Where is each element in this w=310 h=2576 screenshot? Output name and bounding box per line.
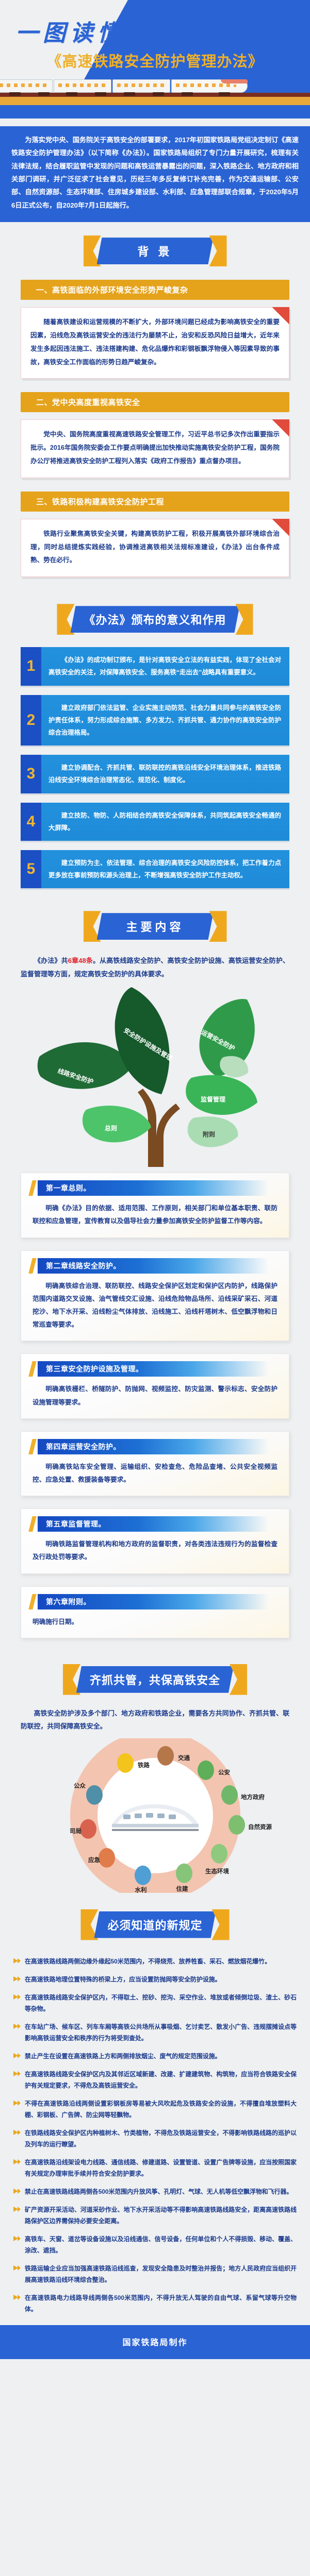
arrow-right-icon bbox=[13, 2129, 22, 2136]
chapter-text-2: 明确高铁综合治理、联防联控、线路安全保护区划定和保护区内防护，线路保护范围内道路… bbox=[32, 1280, 278, 1332]
significance-text-4: 建立技防、物防、人防相结合的高铁安全保障体系，共同筑起高铁安全畅通的大屏障。 bbox=[48, 809, 281, 834]
joint-management-diagram: 铁路 交通 公安 地方政府 自然资源 生态环境 bbox=[0, 1738, 310, 1893]
new-rule-text-9: 禁止在高速铁路线路两侧各500米范围内升放风筝、孔明灯、气球、无人机等低空飘浮物… bbox=[25, 2186, 297, 2197]
list-item: 禁止产生在设置在高速铁路上方和两侧排放烟尘、废气的规定范围设施。 bbox=[13, 2050, 297, 2062]
tree-leaf-supervision: 监督管理 bbox=[186, 1075, 257, 1115]
tree-diagram: 线路安全防护 安全防护设施及管理 运营安全防护 监督管理 bbox=[0, 984, 310, 1170]
highlight-chapter-count: 6章48条 bbox=[68, 957, 93, 964]
train-car bbox=[0, 79, 53, 93]
chapter-slash-icon bbox=[28, 1258, 36, 1274]
tree-leaf-facilities: 安全防护设施及管理 bbox=[115, 987, 173, 1094]
background-card-2: 党中央、国务院高度重视高速铁路安全管理工作，习近平总书记多次作出重要指示批示。2… bbox=[21, 419, 289, 478]
arrow-right-icon bbox=[13, 2188, 22, 2194]
new-rules-banner-label: 必须知道的新规定 bbox=[94, 1911, 216, 1938]
chapter-slash-icon bbox=[28, 1361, 36, 1377]
fold-corner-icon bbox=[272, 519, 289, 536]
train-head-car bbox=[171, 79, 248, 93]
tree-svg: 线路安全防护 安全防护设施及管理 运营安全防护 监督管理 bbox=[21, 984, 289, 1167]
background-text-3: 铁路行业聚焦高铁安全关键，构建高铁防护工程，积极开展高铁外部环境综合治理，同时总… bbox=[30, 528, 280, 567]
significance-number-5: 5 bbox=[21, 850, 41, 888]
arrow-right-icon bbox=[13, 2100, 22, 2106]
department-node-local-gov: 地方政府 bbox=[221, 1785, 265, 1805]
significance-text-2: 建立政府部门依法监管、企业实施主动防范、社会力量共同参与的高铁安全防护责任体系，… bbox=[48, 702, 281, 739]
chapter-slash-icon bbox=[28, 1594, 36, 1609]
department-label-4: 自然资源 bbox=[248, 1823, 272, 1831]
fold-corner-icon bbox=[272, 307, 289, 325]
department-label-1: 交通 bbox=[178, 1754, 190, 1761]
background-heading-2: 二、党中央高度重视高铁安全 bbox=[21, 392, 289, 412]
list-item: 矿产资源开采活动、河道采砂作业、地下水开采活动等不得影响高速铁路线路安全，距离高… bbox=[13, 2204, 297, 2227]
background-card-1: 随着高铁建设和运营规模的不断扩大，外部环境问题已经成为影响高铁安全的重要因素，沿… bbox=[21, 307, 289, 379]
chapter-title-6: 第六章附则。 bbox=[38, 1594, 289, 1609]
chapter-text-4: 明确高铁站车安全管理、运输组织、安检查危、危险品查堵、公共安全视频监控、应急处置… bbox=[32, 1461, 278, 1486]
department-label-8: 应急 bbox=[88, 1856, 100, 1863]
ribbon-tail-right bbox=[236, 604, 253, 635]
arrow-right-icon bbox=[13, 2265, 22, 2271]
infographic-page: 一图读懂 《高速铁路安全防护管理办法》 bbox=[0, 0, 310, 2359]
department-label-9: 司局 bbox=[70, 1828, 81, 1835]
chapter-title-1: 第一章总则。 bbox=[38, 1180, 289, 1196]
background-text-2: 党中央、国务院高度重视高速铁路安全管理工作，习近平总书记多次作出重要指示批示。2… bbox=[30, 428, 280, 468]
chapter-title-4: 第四章运营安全防护。 bbox=[38, 1439, 289, 1454]
arrow-right-icon bbox=[13, 1994, 22, 2000]
hero-header: 一图读懂 《高速铁路安全防护管理办法》 bbox=[0, 0, 310, 126]
train-car bbox=[112, 79, 170, 93]
new-rule-text-3: 在车站广场、候车区、列车车厢等高铁公共场所从事吸烟、乞讨卖艺、散发小广告、违规摆… bbox=[25, 2021, 297, 2044]
chapter-text-6: 明确施行日期。 bbox=[32, 1616, 278, 1629]
list-item: 禁止在高速铁路线路两侧各500米范围内升放风筝、孔明灯、气球、无人机等低空飘浮物… bbox=[13, 2186, 297, 2197]
arrow-right-icon bbox=[13, 2053, 22, 2059]
tree-leaf-label-5: 附则 bbox=[203, 1130, 215, 1138]
background-banner-label: 背 景 bbox=[97, 238, 214, 264]
new-rule-text-10: 矿产资源开采活动、河道采砂作业、地下水开采活动等不得影响高速铁路线路安全，距离高… bbox=[25, 2204, 297, 2227]
department-label-10: 公众 bbox=[74, 1782, 86, 1789]
intro-paragraph: 为落实党中央、国务院关于高铁安全的部署要求，2017年初国家铁路局党组决定制订《… bbox=[0, 126, 310, 222]
list-item: 在高速铁路沿线架设电力线路、通信线路、修建道路、设置管道、设置广告牌等设施，应当… bbox=[13, 2157, 297, 2179]
joint-management-banner-label: 齐抓共管，共保高铁安全 bbox=[76, 1666, 234, 1693]
joint-management-banner: 齐抓共管，共保高铁安全 bbox=[0, 1651, 310, 1705]
background-heading-3: 三、铁路积极构建高铁安全防护工程 bbox=[21, 492, 289, 512]
list-item: 铁路运输企业应当加强高速铁路沿线巡查，发现安全隐患及时整治并报告；地方人民政府应… bbox=[13, 2263, 297, 2285]
significance-text-1: 《办法》的成功制订颁布，是针对高铁安全立法的有益实践，体现了全社会对高铁安全的关… bbox=[48, 654, 281, 679]
chapter-text-3: 明确高铁栅栏、桥隧防护、防抛网、视频监控、防灾监测、警示标志、安全防护设施管理等… bbox=[32, 1383, 278, 1409]
chapter-card-1: 第一章总则。 明确《办法》目的依据、适用范围、工作原则，相关部门和单位基本职责、… bbox=[21, 1173, 289, 1238]
background-card-3: 铁路行业聚焦高铁安全关键，构建高铁防护工程，积极开展高铁外部环境综合治理，同时总… bbox=[21, 519, 289, 577]
arrow-right-icon bbox=[13, 2294, 22, 2300]
ribbon-tail-right bbox=[209, 235, 227, 266]
arrow-right-icon bbox=[13, 2235, 22, 2242]
arrow-right-icon bbox=[13, 2159, 22, 2165]
footer-credit: 国家铁路局制作 bbox=[0, 2325, 310, 2359]
list-item: 不得在高速铁路沿线两侧设置彩钢板房等易被大风吹起危及铁路安全的设施，不得擅自堆放… bbox=[13, 2098, 297, 2121]
tree-leaf-general: 总则 bbox=[82, 1106, 151, 1142]
main-content-intro-text: 《办法》共6章48条。从高铁线路安全防护、高铁安全防护设施、高铁运营安全防护、监… bbox=[21, 954, 289, 981]
chapter-text-1: 明确《办法》目的依据、适用范围、工作原则，相关部门和单位基本职责、联防联控和应急… bbox=[32, 1202, 278, 1228]
significance-banner-label: 《办法》颁布的意义和作用 bbox=[70, 606, 239, 633]
chapter-title-5: 第五章监督管理。 bbox=[38, 1516, 289, 1532]
background-banner: 背 景 bbox=[0, 222, 310, 277]
department-label-7: 水利 bbox=[135, 1886, 146, 1893]
arrow-right-icon bbox=[13, 2071, 22, 2077]
tree-leaf-label-3: 监督管理 bbox=[201, 1095, 225, 1103]
new-rule-text-6: 不得在高速铁路沿线两侧设置彩钢板房等易被大风吹起危及铁路安全的设施，不得擅自堆放… bbox=[25, 2098, 297, 2121]
department-node-natural-resources: 自然资源 bbox=[229, 1815, 272, 1835]
chapter-text-5: 明确铁路监督管理机构和地方政府的监督职责，对各类违法违规行为的监督检查及行政处罚… bbox=[32, 1538, 278, 1564]
chapter-card-5: 第五章监督管理。 明确铁路监督管理机构和地方政府的监督职责，对各类违法违规行为的… bbox=[21, 1509, 289, 1573]
chapter-title-2: 第二章线路安全防护。 bbox=[38, 1258, 289, 1274]
page-title-brush: 一图读懂 bbox=[15, 14, 125, 47]
joint-management-intro-text: 高铁安全防护涉及多个部门、地方政府和铁路企业，需要各方共同协作、齐抓共管、联防联… bbox=[21, 1707, 289, 1733]
chapter-title-3: 第三章安全防护设施及管理。 bbox=[38, 1361, 289, 1377]
list-item: 4 建立技防、物防、人防相结合的高铁安全保障体系，共同筑起高铁安全畅通的大屏障。 bbox=[21, 803, 289, 841]
main-content-intro: 《办法》共6章48条。从高铁线路安全防护、高铁安全防护设施、高铁运营安全防护、监… bbox=[21, 954, 289, 981]
new-rule-text-0: 在高速铁路线路两侧边缘外缘起50米范围内，不得烧荒、放养牲畜、采石、燃放烟花爆竹… bbox=[25, 1956, 297, 1967]
train-illustration bbox=[0, 75, 310, 99]
department-label-2: 公安 bbox=[218, 1769, 230, 1776]
chapter-card-3: 第三章安全防护设施及管理。 明确高铁栅栏、桥隧防护、防抛网、视频监控、防灾监测、… bbox=[21, 1353, 289, 1418]
department-label-0: 铁路 bbox=[138, 1761, 150, 1769]
list-item: 在高速铁路线路安全保护区内，不得取土、挖砂、挖沟、采空作业、堆放或者倾倒垃圾、渣… bbox=[13, 1992, 297, 2014]
new-rule-text-5: 在高速铁路线路安全保护区内及其邻近区域新建、改建、扩建建筑物、构筑物，应当符合铁… bbox=[25, 2069, 297, 2091]
intro-text: 为落实党中央、国务院关于高铁安全的部署要求，2017年初国家铁路局党组决定制订《… bbox=[11, 133, 299, 212]
background-text-1: 随着高铁建设和运营规模的不断扩大，外部环境问题已经成为影响高铁安全的重要因素，沿… bbox=[30, 316, 280, 369]
list-item: 在高速铁路线路安全保护区内及其邻近区域新建、改建、扩建建筑物、构筑物，应当符合铁… bbox=[13, 2069, 297, 2091]
significance-number-3: 3 bbox=[21, 755, 41, 793]
rail-ground bbox=[0, 96, 310, 105]
tree-leaf-label-4: 总则 bbox=[105, 1124, 117, 1132]
significance-banner: 《办法》颁布的意义和作用 bbox=[0, 590, 310, 645]
significance-number-4: 4 bbox=[21, 803, 41, 841]
chapter-card-2: 第二章线路安全防护。 明确高铁综合治理、联防联控、线路安全保护区划定和保护区内防… bbox=[21, 1250, 289, 1342]
list-item: 2 建立政府部门依法监管、企业实施主动防范、社会力量共同参与的高铁安全防护责任体… bbox=[21, 695, 289, 746]
significance-list: 1 《办法》的成功制订颁布，是针对高铁安全立法的有益实践，体现了全社会对高铁安全… bbox=[21, 647, 289, 888]
background-heading-1: 一、高铁面临的外部环境安全形势严峻复杂 bbox=[21, 280, 289, 300]
new-rule-text-8: 在高速铁路沿线架设电力线路、通信线路、修建道路、设置管道、设置广告牌等设施，应当… bbox=[25, 2157, 297, 2179]
main-content-banner-label: 主要内容 bbox=[97, 913, 214, 940]
arrow-right-icon bbox=[13, 1958, 22, 1964]
significance-text-3: 建立协调配合、齐抓共管、联防联控的高铁沿线安全环境治理体系，推进铁路沿线安全环境… bbox=[48, 761, 281, 786]
ribbon-tail-right bbox=[209, 911, 227, 942]
chapter-slash-icon bbox=[28, 1180, 36, 1196]
list-item: 1 《办法》的成功制订颁布，是针对高铁安全立法的有益实践，体现了全社会对高铁安全… bbox=[21, 647, 289, 685]
circle-svg: 铁路 交通 公安 地方政府 自然资源 生态环境 bbox=[11, 1738, 300, 1893]
department-label-6: 住建 bbox=[176, 1885, 188, 1892]
ribbon-tail-right bbox=[230, 1664, 247, 1695]
chapter-slash-icon bbox=[28, 1516, 36, 1532]
arrow-right-icon bbox=[13, 2206, 22, 2212]
chapter-card-4: 第四章运营安全防护。 明确高铁站车安全管理、运输组织、安检查危、危险品查堵、公共… bbox=[21, 1431, 289, 1496]
chapter-card-6: 第六章附则。 明确施行日期。 bbox=[21, 1586, 289, 1638]
new-rules-banner: 必须知道的新规定 bbox=[0, 1896, 310, 1951]
significance-number-1: 1 bbox=[21, 647, 41, 685]
new-rule-text-11: 高铁车、天窗、道岔等设备设施以及沿线通信、信号设备，任何单位和个人不得损毁、移动… bbox=[25, 2233, 297, 2256]
department-label-5: 生态环境 bbox=[205, 1868, 229, 1875]
new-rule-text-13: 在高速铁路电力线路导线两侧各500米范围内，不得升放无人驾驶的自由气球、系留气球… bbox=[25, 2292, 297, 2315]
page-title-law: 《高速铁路安全防护管理办法》 bbox=[0, 49, 310, 71]
main-content-banner: 主要内容 bbox=[0, 897, 310, 952]
tree-branch bbox=[156, 1104, 180, 1167]
train-car bbox=[54, 79, 111, 93]
arrow-right-icon bbox=[13, 2023, 22, 2029]
list-item: 在高速铁路线路两侧边缘外缘起50米范围内，不得烧荒、放养牲畜、采石、燃放烟花爆竹… bbox=[13, 1956, 297, 1967]
ribbon-tail-right bbox=[212, 1909, 230, 1940]
new-rule-text-7: 在铁路线路安全保护区内种植树木、竹类植物，不得危及铁路运营安全，不得影响铁路线路… bbox=[25, 2127, 297, 2150]
list-item: 在高速铁路电力线路导线两侧各500米范围内，不得升放无人驾驶的自由气球、系留气球… bbox=[13, 2292, 297, 2315]
list-item: 5 建立预防为主、依法管理、综合治理的高铁安全风险防控体系，把工作着力点更多放在… bbox=[21, 850, 289, 888]
list-item: 在高速铁路地理位置特殊的桥梁上方，应当设置防抛网等安全防护设施。 bbox=[13, 1974, 297, 1985]
new-rule-text-4: 禁止产生在设置在高速铁路上方和两侧排放烟尘、废气的规定范围设施。 bbox=[25, 2050, 297, 2062]
tree-leaf-supplementary: 附则 bbox=[187, 1116, 238, 1147]
list-item: 在车站广场、候车区、列车车厢等高铁公共场所从事吸烟、乞讨卖艺、散发小广告、违规摆… bbox=[13, 2021, 297, 2044]
new-rules-list: 在高速铁路线路两侧边缘外缘起50米范围内，不得烧荒、放养牲畜、采石、燃放烟花爆竹… bbox=[13, 1956, 297, 2315]
fold-corner-icon bbox=[272, 419, 289, 437]
significance-number-2: 2 bbox=[21, 695, 41, 746]
list-item: 高铁车、天窗、道岔等设备设施以及沿线通信、信号设备，任何单位和个人不得损毁、移动… bbox=[13, 2233, 297, 2256]
chapter-slash-icon bbox=[28, 1439, 36, 1454]
new-rule-text-1: 在高速铁路地理位置特殊的桥梁上方，应当设置防抛网等安全防护设施。 bbox=[25, 1974, 297, 1985]
list-item: 在铁路线路安全保护区内种植树木、竹类植物，不得危及铁路运营安全，不得影响铁路线路… bbox=[13, 2127, 297, 2150]
list-item: 3 建立协调配合、齐抓共管、联防联控的高铁沿线安全环境治理体系，推进铁路沿线安全… bbox=[21, 755, 289, 793]
department-label-3: 地方政府 bbox=[241, 1793, 265, 1801]
new-rule-text-2: 在高速铁路线路安全保护区内，不得取土、挖砂、挖沟、采空作业、堆放或者倾倒垃圾、渣… bbox=[25, 1992, 297, 2014]
significance-text-5: 建立预防为主、依法管理、综合治理的高铁安全风险防控体系，把工作着力点更多放在事前… bbox=[48, 857, 281, 882]
arrow-right-icon bbox=[13, 1976, 22, 1982]
joint-management-intro: 高铁安全防护涉及多个部门、地方政府和铁路企业，需要各方共同协作、齐抓共管、联防联… bbox=[21, 1707, 289, 1733]
new-rule-text-12: 铁路运输企业应当加强高速铁路沿线巡查，发现安全隐患及时整治并报告；地方人民政府应… bbox=[25, 2263, 297, 2285]
